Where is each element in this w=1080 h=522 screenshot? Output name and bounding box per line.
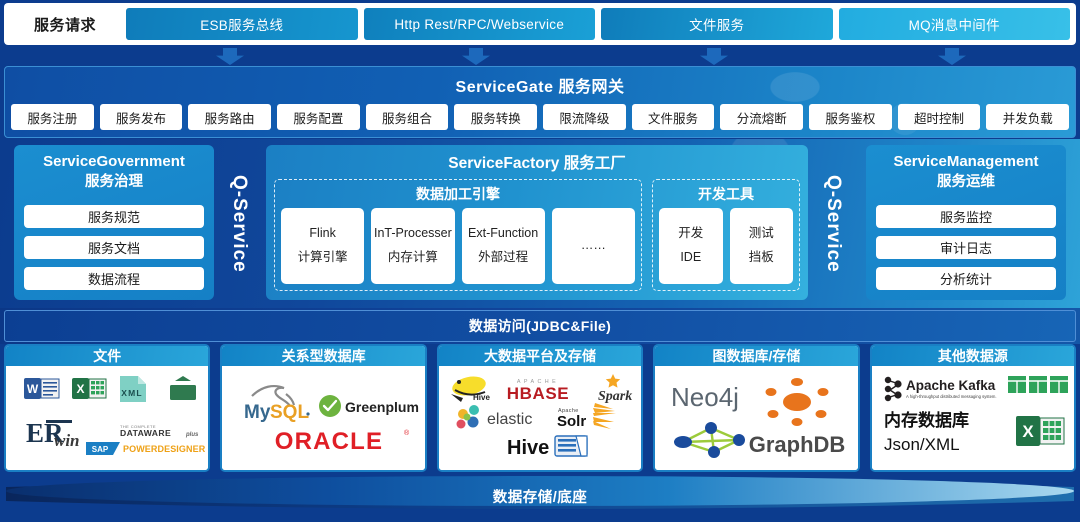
engine-card-flink[interactable]: Flink 计算引擎 [281, 208, 364, 284]
service-government-title-en: ServiceGovernment [43, 153, 185, 170]
kafka-logo: Apache Kafka A high-throughput distribut… [884, 377, 996, 401]
gate-chip-fileservice[interactable]: 文件服务 [632, 104, 715, 130]
q-service-label-left: Q-Service [222, 149, 256, 299]
request-button-mq[interactable]: MQ消息中间件 [839, 8, 1071, 40]
other-logos-svg: Apache Kafka A high-throughput distribut… [876, 370, 1074, 462]
service-government-panel: ServiceGovernment 服务治理 服务规范 服务文档 数据流程 [14, 145, 214, 300]
svg-text:POWERDESIGNER: POWERDESIGNER [123, 444, 206, 454]
base-platform: 数据存储/底座 [0, 473, 1080, 517]
data-source-logos-rdbms: My SQL Greenplum ORACLE ® [222, 366, 424, 471]
devtool-ide-line1: 开发 [678, 222, 703, 246]
excel-icon: X [1016, 416, 1064, 446]
service-management-item-stats[interactable]: 分析统计 [876, 267, 1056, 290]
service-government-title-cn: 服务治理 [85, 170, 143, 191]
data-source-logos-files: W X XML [6, 366, 208, 471]
devtools-cards: 开发 IDE 测试 挡板 [659, 208, 793, 284]
service-government-item-spec[interactable]: 服务规范 [24, 205, 204, 228]
svg-text:win: win [54, 431, 80, 450]
down-arrow-icon-3 [700, 48, 728, 65]
data-source-logos-bigdata: Hive APACHE HBASE Spark elastic [439, 366, 641, 471]
devtool-ide-line2: IDE [680, 246, 701, 270]
erwin-logo: ER win [26, 418, 80, 450]
gate-chip-route[interactable]: 服务路由 [188, 104, 271, 130]
engine-card-flink-line2: 计算引擎 [298, 246, 348, 270]
solr-logo: Apache Solr [557, 403, 616, 430]
folder-icon [170, 376, 196, 400]
engine-card-int-line2: 内存计算 [388, 246, 438, 270]
data-source-logos-other: Apache Kafka A high-throughput distribut… [872, 366, 1074, 471]
hive-logo: Hive [507, 436, 587, 459]
engine-card-more-line1: …… [581, 234, 606, 258]
service-management-item-monitor[interactable]: 服务监控 [876, 205, 1056, 228]
data-source-card-other[interactable]: 其他数据源 Apache Kafka A high-throughput dis… [870, 344, 1076, 472]
devtool-card-ide[interactable]: 开发 IDE [659, 208, 723, 284]
engine-card-int-line1: InT-Processer [374, 222, 452, 246]
file-logos-svg: W X XML [10, 370, 210, 462]
gate-chip-compose[interactable]: 服务组合 [366, 104, 449, 130]
word-icon: W [24, 378, 59, 399]
service-government-item-dataflow[interactable]: 数据流程 [24, 267, 204, 290]
data-source-list: 文件 W X [0, 344, 1080, 472]
gate-chip-auth[interactable]: 服务鉴权 [809, 104, 892, 130]
greenplum-logo: Greenplum [319, 395, 419, 417]
svg-text:X: X [76, 382, 84, 396]
request-button-file[interactable]: 文件服务 [601, 8, 833, 40]
data-source-title-graphdb: 图数据库/存储 [655, 346, 857, 366]
data-source-card-bigdata[interactable]: 大数据平台及存储 Hive APACHE HBASE Spark [437, 344, 643, 472]
down-arrow-icon-2 [462, 48, 490, 65]
engine-card-ext-line2: 外部过程 [478, 246, 528, 270]
gate-chip-config[interactable]: 服务配置 [277, 104, 360, 130]
data-engine-title: 数据加工引擎 [281, 184, 635, 204]
engine-card-int-processer[interactable]: InT-Processer 内存计算 [371, 208, 454, 284]
svg-text:Solr: Solr [557, 413, 586, 430]
service-factory-sections: 数据加工引擎 Flink 计算引擎 InT-Processer 内存计算 Ext… [274, 179, 800, 291]
service-gate-chip-list: 服务注册 服务发布 服务路由 服务配置 服务组合 服务转换 限流降级 文件服务 … [5, 97, 1075, 130]
svg-text:W: W [27, 382, 39, 396]
engine-card-ext-line1: Ext-Function [468, 222, 538, 246]
table-icon [1008, 376, 1068, 393]
data-source-card-rdbms[interactable]: 关系型数据库 My SQL Greenplum ORACLE ® [220, 344, 426, 472]
service-management-title-cn: 服务运维 [937, 170, 995, 191]
neo4j-logo: Neo4j [671, 382, 745, 458]
engine-card-more[interactable]: …… [552, 208, 635, 284]
hive-bee-logo: Hive [450, 374, 490, 402]
svg-text:SQL: SQL [270, 402, 309, 423]
engine-card-flink-line1: Flink [309, 222, 335, 246]
svg-text:Hive: Hive [473, 393, 490, 402]
data-source-card-files[interactable]: 文件 W X [4, 344, 210, 472]
bigdata-logos-svg: Hive APACHE HBASE Spark elastic [443, 370, 643, 462]
data-source-title-other: 其他数据源 [872, 346, 1074, 366]
gate-chip-transform[interactable]: 服务转换 [454, 104, 537, 130]
mysql-logo: My SQL [244, 386, 310, 423]
down-arrow-icon-1 [216, 48, 244, 65]
hbase-logo: APACHE HBASE [507, 379, 570, 403]
devtool-test-line2: 挡板 [749, 246, 774, 270]
service-request-bar: 服务请求 ESB服务总线 Http Rest/RPC/Webservice 文件… [4, 3, 1076, 45]
svg-text:plus: plus [185, 432, 199, 438]
service-management-panel: ServiceManagement 服务运维 服务监控 审计日志 分析统计 [866, 145, 1066, 300]
svg-text:SAP: SAP [92, 445, 109, 454]
svg-text:ORACLE: ORACLE [275, 428, 384, 455]
service-factory-title: ServiceFactory 服务工厂 [274, 151, 800, 173]
graphdb-logo: GraphDB [749, 378, 846, 457]
oracle-logo: ORACLE ® [275, 428, 410, 455]
request-button-esb[interactable]: ESB服务总线 [126, 8, 358, 40]
memdb-text: 内存数据库 [884, 410, 969, 430]
gate-chip-concurrency[interactable]: 并发负载 [986, 104, 1069, 130]
gate-chip-register[interactable]: 服务注册 [11, 104, 94, 130]
gate-chip-circuit[interactable]: 分流熔断 [720, 104, 803, 130]
data-access-label: 数据访问(JDBC&File) [4, 310, 1076, 342]
svg-text:®: ® [404, 429, 410, 437]
data-engine-section: 数据加工引擎 Flink 计算引擎 InT-Processer 内存计算 Ext… [274, 179, 642, 291]
sap-powerdesigner-logo: SAP POWERDESIGNER [86, 442, 206, 455]
service-government-item-doc[interactable]: 服务文档 [24, 236, 204, 259]
gate-chip-timeout[interactable]: 超时控制 [898, 104, 981, 130]
service-gate-title: ServiceGate 服务网关 [5, 67, 1075, 97]
base-label: 数据存储/底座 [0, 486, 1080, 507]
svg-text:Hive: Hive [507, 437, 549, 459]
request-button-http[interactable]: Http Rest/RPC/Webservice [364, 8, 596, 40]
svg-text:GraphDB: GraphDB [749, 432, 846, 457]
data-source-title-files: 文件 [6, 346, 208, 366]
svg-text:X: X [1022, 422, 1034, 441]
svg-text:XML: XML [121, 388, 143, 398]
q-service-label-right: Q-Service [816, 149, 850, 299]
elastic-logo: elastic [456, 405, 532, 429]
service-management-item-audit[interactable]: 审计日志 [876, 236, 1056, 259]
svg-text:Greenplum: Greenplum [345, 399, 419, 415]
data-source-card-graphdb[interactable]: 图数据库/存储 Neo4j [653, 344, 859, 472]
devtools-title: 开发工具 [659, 184, 793, 204]
service-factory-panel: ServiceFactory 服务工厂 数据加工引擎 Flink 计算引擎 In… [266, 145, 808, 300]
data-engine-cards: Flink 计算引擎 InT-Processer 内存计算 Ext-Functi… [281, 208, 635, 284]
svg-text:Apache Kafka: Apache Kafka [906, 378, 996, 393]
graphdb-logos-svg: Neo4j [659, 370, 859, 462]
down-arrow-icon-4 [938, 48, 966, 65]
gate-chip-throttle[interactable]: 限流降级 [543, 104, 626, 130]
svg-text:A high-throughput distributed: A high-throughput distributed messaging … [906, 394, 997, 399]
service-management-title-en: ServiceManagement [893, 153, 1038, 170]
xml-file-icon: XML [120, 376, 146, 402]
svg-text:DATAWARE: DATAWARE [120, 428, 171, 438]
service-request-label: 服务请求 [10, 14, 120, 35]
svg-text:HBASE: HBASE [507, 384, 570, 403]
dataware-logo: THE COMPLETE DATAWARE plus [120, 424, 199, 438]
service-gate-panel: ServiceGate 服务网关 服务注册 服务发布 服务路由 服务配置 服务组… [4, 66, 1076, 138]
svg-text:Spark: Spark [598, 389, 632, 404]
jsonxml-text: Json/XML [884, 435, 960, 454]
svg-text:Neo4j: Neo4j [671, 382, 739, 412]
spark-logo: Spark [598, 374, 632, 404]
data-source-title-rdbms: 关系型数据库 [222, 346, 424, 366]
svg-text:elastic: elastic [487, 411, 532, 428]
devtool-card-test[interactable]: 测试 挡板 [730, 208, 794, 284]
data-source-logos-graphdb: Neo4j [655, 366, 857, 471]
middle-band: ServiceGovernment 服务治理 服务规范 服务文档 数据流程 Q-… [0, 139, 1080, 308]
devtool-test-line1: 测试 [749, 222, 774, 246]
excel-icon: X [72, 378, 106, 399]
data-source-title-bigdata: 大数据平台及存储 [439, 346, 641, 366]
gate-chip-publish[interactable]: 服务发布 [100, 104, 183, 130]
rdbms-logos-svg: My SQL Greenplum ORACLE ® [226, 370, 426, 462]
engine-card-ext-function[interactable]: Ext-Function 外部过程 [462, 208, 545, 284]
svg-text:My: My [244, 402, 271, 423]
devtools-section: 开发工具 开发 IDE 测试 挡板 [652, 179, 800, 291]
